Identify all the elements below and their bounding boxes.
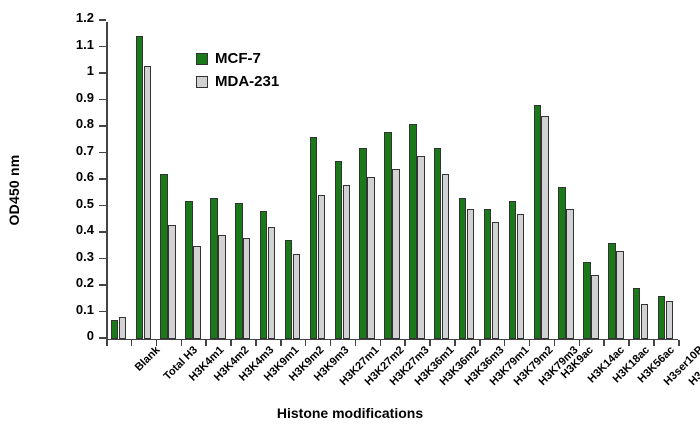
x-axis-tick: [579, 340, 581, 346]
x-axis-tick: [628, 340, 630, 346]
bar-mda231: [541, 116, 548, 339]
y-axis-tick-label: 0.9: [76, 90, 94, 105]
y-axis-tick-label: 0.5: [76, 196, 94, 211]
bar-mcf7: [136, 36, 143, 338]
y-axis-tick-label: 0.1: [76, 302, 94, 317]
y-axis-tick: 1.1: [99, 46, 106, 48]
bar-mcf7: [310, 137, 317, 338]
bar-mda231: [492, 222, 499, 339]
legend-swatch-icon-mcf7: [196, 53, 208, 65]
y-axis-tick: 0: [99, 337, 106, 339]
bar-mda231: [293, 254, 300, 339]
bar-mcf7: [658, 296, 665, 338]
bar-mcf7: [335, 161, 342, 339]
bar-mcf7: [285, 240, 292, 338]
bar-mcf7: [459, 198, 466, 338]
bar-mcf7: [509, 201, 516, 339]
y-axis-tick: 0.1: [99, 311, 106, 313]
y-axis-line: [106, 22, 108, 340]
x-axis-title: Histone modifications: [0, 405, 700, 421]
bar-mda231: [666, 301, 673, 338]
legend: MCF-7 MDA-231: [196, 50, 279, 96]
y-axis-tick: 0.4: [99, 231, 106, 233]
bar-mda231: [367, 177, 374, 339]
y-axis-tick-label: 1.1: [76, 37, 94, 52]
bar-mda231: [591, 275, 598, 339]
x-axis-tick: [230, 340, 232, 346]
y-axis-tick-label: 1: [87, 63, 94, 78]
bar-mcf7: [160, 174, 167, 338]
x-axis-tick: [404, 340, 406, 346]
bar-mcf7: [558, 187, 565, 338]
x-axis-tick: [280, 340, 282, 346]
y-axis-tick-label: 0.8: [76, 116, 94, 131]
bar-mcf7: [534, 105, 541, 338]
bar-mda231: [343, 185, 350, 339]
bar-mcf7: [633, 288, 640, 338]
x-axis-tick: [255, 340, 257, 346]
x-axis-tick: [529, 340, 531, 346]
x-axis-tick: [653, 340, 655, 346]
y-axis-tick-label: 1.2: [76, 10, 94, 25]
x-axis-tick: [205, 340, 207, 346]
bar-mda231: [517, 214, 524, 339]
bar-mcf7: [359, 148, 366, 339]
bar-mcf7: [111, 320, 118, 339]
y-axis-tick: 0.9: [99, 99, 106, 101]
bar-mda231: [392, 169, 399, 339]
x-axis-tick: [330, 340, 332, 346]
x-axis-tick: [181, 340, 183, 346]
bar-mcf7: [235, 203, 242, 338]
bar-mcf7: [608, 243, 615, 338]
bar-mda231: [442, 174, 449, 338]
bar-mda231: [467, 209, 474, 339]
bar-mcf7: [434, 148, 441, 339]
y-axis-tick: 0.2: [99, 284, 106, 286]
legend-swatch-icon-mda231: [196, 76, 208, 88]
x-axis-tick: [380, 340, 382, 346]
bar-chart: OD450 nm 00.10.20.30.40.50.60.70.80.911.…: [0, 0, 700, 435]
bar-mda231: [268, 227, 275, 338]
bar-mcf7: [185, 201, 192, 339]
y-axis-tick: 0.5: [99, 205, 106, 207]
x-axis-line: [106, 339, 678, 341]
bar-mcf7: [583, 262, 590, 339]
bar-mcf7: [409, 124, 416, 339]
bar-mcf7: [484, 209, 491, 339]
bar-mda231: [417, 156, 424, 339]
legend-item-mcf7: MCF-7: [196, 50, 279, 67]
bar-mda231: [318, 195, 325, 338]
y-axis-tick-label: 0.7: [76, 143, 94, 158]
bar-mda231: [243, 238, 250, 339]
legend-item-mda231: MDA-231: [196, 73, 279, 90]
y-axis-tick-label: 0.2: [76, 275, 94, 290]
y-axis-tick: 1: [99, 72, 106, 74]
legend-label-mcf7: MCF-7: [215, 50, 261, 67]
x-axis-tick: [554, 340, 556, 346]
y-axis-tick-label: 0.6: [76, 169, 94, 184]
bar-mda231: [168, 225, 175, 339]
x-axis-tick: [305, 340, 307, 346]
x-axis-tick: [678, 340, 680, 346]
x-axis-tick: [479, 340, 481, 346]
bar-mcf7: [260, 211, 267, 338]
x-axis-tick: [106, 340, 108, 346]
y-axis-tick-label: 0: [87, 328, 94, 343]
y-axis-tick-label: 0.3: [76, 249, 94, 264]
x-axis-label: Blank: [133, 344, 163, 374]
x-axis-tick: [504, 340, 506, 346]
y-axis-tick: 0.3: [99, 258, 106, 260]
bar-mda231: [193, 246, 200, 339]
bar-mda231: [616, 251, 623, 338]
bar-mcf7: [384, 132, 391, 339]
y-axis-tick: 0.7: [99, 152, 106, 154]
x-axis-tick: [603, 340, 605, 346]
bar-mda231: [566, 209, 573, 339]
bar-mda231: [119, 317, 126, 338]
y-axis-tick: 1.2: [99, 19, 106, 21]
y-axis-tick-label: 0.4: [76, 222, 94, 237]
x-axis-tick: [131, 340, 133, 346]
bar-mcf7: [210, 198, 217, 338]
x-axis-tick: [454, 340, 456, 346]
x-axis-tick: [355, 340, 357, 346]
bar-mda231: [144, 66, 151, 339]
y-axis-tick: 0.8: [99, 125, 106, 127]
y-axis-title: OD450 nm: [6, 120, 22, 260]
plot-area: 00.10.20.30.40.50.60.70.80.911.11.2: [106, 22, 678, 340]
x-axis-tick: [429, 340, 431, 346]
y-axis-tick: 0.6: [99, 178, 106, 180]
legend-label-mda231: MDA-231: [215, 73, 279, 90]
bar-mda231: [218, 235, 225, 338]
bar-mda231: [641, 304, 648, 338]
